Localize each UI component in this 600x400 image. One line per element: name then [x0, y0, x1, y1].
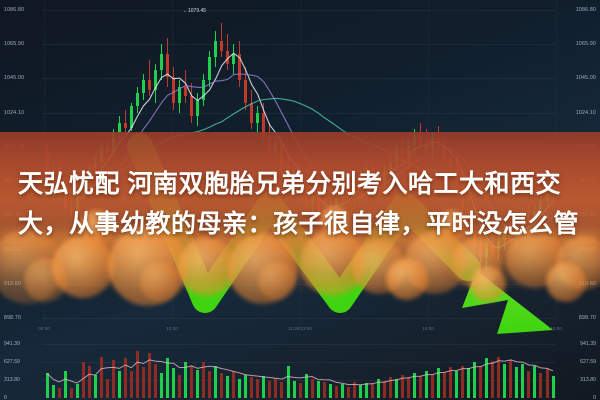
candlestick [142, 74, 145, 100]
volume-bar [46, 373, 49, 398]
volume-bar [160, 373, 163, 398]
volume-bar [262, 376, 265, 398]
candle-body [172, 77, 175, 103]
headline-text: 天弘忧配 河南双胞胎兄弟分别考入哈工大和西交大，从事幼教的母亲：孩子很自律，平时… [18, 164, 584, 244]
volume-bar [178, 375, 181, 398]
candlestick [220, 23, 223, 57]
volume-bar [136, 351, 139, 398]
candlestick [178, 80, 181, 113]
volume-bar [467, 368, 470, 398]
volume-panel: 941.39627.59313.800 941.39627.59313.800 [0, 336, 600, 400]
candle-body [160, 54, 163, 70]
volume-bar [353, 382, 356, 398]
time-axis-label: 10:30 [166, 326, 178, 331]
candle-body [226, 51, 229, 64]
volume-bar [341, 384, 344, 398]
candle-body [220, 41, 223, 51]
volume-bar [389, 377, 392, 398]
volume-bar [250, 377, 253, 398]
volume-bar [359, 385, 362, 398]
candlestick [256, 106, 259, 132]
volume-bar [479, 366, 482, 398]
time-axis-label: 11:30/13:00 [288, 326, 312, 331]
volume-bar [154, 364, 157, 398]
candlestick [160, 44, 163, 80]
candle-body [130, 106, 133, 127]
volume-bar [244, 375, 247, 399]
time-axis-label: 14:00 [422, 326, 434, 331]
volume-bar [455, 371, 458, 399]
volume-bar [407, 377, 410, 398]
candle-body [154, 70, 157, 90]
bokeh-light [470, 266, 506, 302]
volume-bar [274, 378, 277, 398]
gridline [42, 10, 556, 11]
volume-bar [509, 360, 512, 398]
price-axis-label: 1024.10 [4, 110, 24, 116]
gridline [42, 344, 556, 345]
gridline [42, 44, 556, 45]
volume-bar [106, 379, 109, 398]
volume-bar [268, 381, 271, 398]
volume-bar [148, 353, 151, 398]
volume-bar [521, 364, 524, 398]
volume-axis-label: 627.59 [4, 359, 20, 365]
candle-body [214, 41, 217, 57]
volume-bar [142, 367, 145, 398]
volume-bar [190, 366, 193, 398]
volume-bar [299, 383, 302, 398]
volume-bar [395, 379, 398, 398]
gridline [42, 318, 556, 319]
candlestick [184, 70, 187, 103]
price-axis-label: 898.70 [579, 315, 596, 321]
volume-bar [413, 373, 416, 398]
volume-bar [112, 360, 115, 398]
bokeh-light [258, 262, 296, 300]
candlestick [172, 67, 175, 110]
price-axis-label: 1024.10 [576, 110, 596, 116]
volume-bar [425, 371, 428, 398]
candlestick [214, 31, 217, 67]
bokeh-light [386, 258, 428, 300]
volume-bar [220, 373, 223, 398]
candlestick [196, 93, 199, 126]
candlestick [124, 110, 127, 133]
volume-bar [539, 373, 542, 398]
volume-bar [461, 366, 464, 398]
candlestick [238, 41, 241, 87]
candle-body [142, 80, 145, 93]
volume-bar [226, 376, 229, 398]
volume-bar [118, 371, 121, 398]
candle-body [148, 80, 151, 90]
volume-axis-label: 941.39 [4, 341, 20, 347]
volume-axis-label: 627.59 [580, 359, 596, 365]
candlestick [130, 103, 133, 131]
gridline [42, 362, 556, 363]
volume-bar [70, 388, 73, 398]
chart-screenshot: 1086.801065.901045.001024.101003.20982.3… [0, 0, 600, 400]
volume-bar [88, 366, 91, 398]
price-axis-label: 1065.90 [576, 41, 596, 47]
volume-bar [419, 376, 422, 398]
bokeh-light [24, 258, 68, 302]
volume-bar [293, 381, 296, 398]
volume-bar [347, 387, 350, 399]
candle-body [190, 96, 193, 116]
candlestick [232, 44, 235, 74]
candle-body [136, 93, 139, 106]
volume-bar [100, 357, 103, 398]
volume-bar [437, 368, 440, 398]
candle-body [256, 113, 259, 123]
candlestick [250, 90, 253, 129]
candle-body [184, 87, 187, 97]
volume-bar [335, 386, 338, 398]
volume-bar [371, 383, 374, 398]
volume-bar [443, 372, 446, 398]
volume-bar [232, 371, 235, 398]
candlestick [190, 83, 193, 122]
volume-bar [287, 366, 290, 398]
volume-bar [238, 379, 241, 399]
price-axis-label: 1086.80 [4, 7, 24, 13]
price-marker-annotation: ←1079.45 [183, 8, 206, 14]
candlestick [244, 67, 247, 110]
candle-body [196, 100, 199, 116]
candlestick [226, 34, 229, 70]
volume-bar [491, 361, 494, 398]
volume-bar [214, 366, 217, 398]
volume-bar [329, 384, 332, 398]
volume-axis-label: 0 [593, 395, 596, 400]
volume-axis-label: 313.80 [580, 377, 596, 383]
volume-bar [76, 384, 79, 398]
volume-bar [552, 376, 555, 398]
candle-body [244, 80, 247, 103]
volume-bar [130, 371, 133, 399]
volume-bar [280, 382, 283, 398]
time-axis-label: 09:30 [38, 326, 50, 331]
volume-bar [172, 368, 175, 398]
candle-body [178, 87, 181, 103]
volume-bar [515, 367, 518, 398]
volume-bar [82, 362, 85, 398]
candle-body [232, 54, 235, 64]
price-axis-label: 1065.90 [4, 41, 24, 47]
volume-bar [208, 371, 211, 398]
time-axis-label: 15:00 [550, 326, 562, 331]
volume-bar [305, 374, 308, 398]
volume-bar [533, 366, 536, 398]
volume-bar [497, 357, 500, 398]
price-axis-label: 1086.80 [576, 7, 596, 13]
volume-axis-label: 0 [4, 395, 7, 400]
gridline [42, 113, 556, 114]
candlestick [148, 60, 151, 96]
volume-bar [485, 358, 488, 398]
volume-bar [527, 371, 530, 399]
candle-body [166, 54, 169, 77]
volume-bar [546, 369, 549, 398]
candlestick [136, 87, 139, 113]
bokeh-light [140, 262, 180, 302]
volume-bar [473, 362, 476, 398]
volume-bar [256, 379, 259, 398]
volume-bar [377, 379, 380, 398]
volume-bar [94, 375, 97, 398]
candle-wick [149, 60, 150, 96]
volume-bar [58, 388, 61, 398]
candle-body [124, 123, 127, 128]
candlestick [208, 51, 211, 87]
volume-bar [311, 379, 314, 398]
volume-axis-label: 941.39 [580, 341, 596, 347]
volume-bar [401, 375, 404, 398]
candle-body [238, 54, 241, 80]
bokeh-light [546, 262, 586, 302]
volume-axis-label: 313.80 [4, 377, 20, 383]
price-axis-label: 1045.00 [4, 75, 24, 81]
volume-bar [64, 371, 67, 398]
volume-bar [431, 375, 434, 398]
volume-bar [323, 382, 326, 398]
candle-body [208, 57, 211, 80]
volume-bar [124, 358, 127, 398]
volume-bar [383, 381, 386, 398]
volume-bar [184, 362, 187, 398]
candle-wick [125, 110, 126, 133]
volume-bar [365, 383, 368, 399]
gridline [42, 78, 556, 79]
time-axis: 09:3010:3011:30/13:0014:0015:00 [0, 326, 600, 335]
candle-body [250, 103, 253, 123]
candle-body [202, 80, 205, 100]
candle-body [118, 123, 121, 133]
volume-bar [503, 364, 506, 398]
candlestick [154, 64, 157, 103]
candlestick [202, 74, 205, 107]
volume-bar [202, 362, 205, 398]
volume-bar [52, 385, 55, 398]
volume-bar [317, 381, 320, 398]
candlestick [166, 38, 169, 87]
volume-bar [166, 358, 169, 398]
price-axis-label: 898.70 [4, 315, 21, 321]
price-axis-label: 1045.00 [576, 75, 596, 81]
volume-bar [449, 367, 452, 398]
volume-bar [196, 370, 199, 398]
